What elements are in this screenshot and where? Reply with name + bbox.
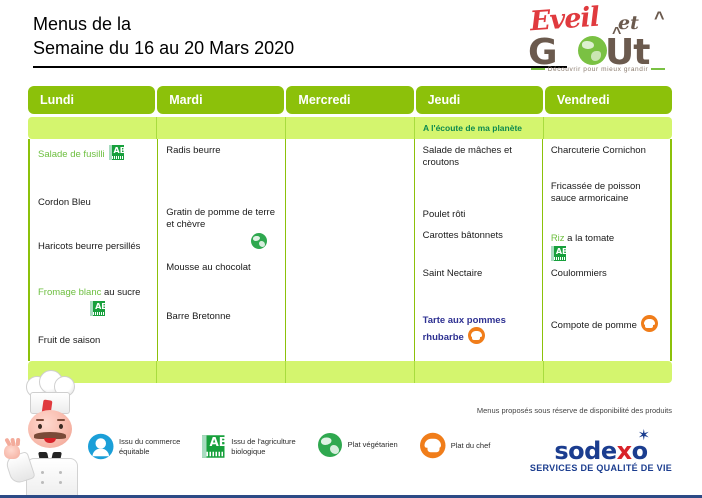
dish-item: Compote de pomme [551,315,666,332]
sodexo-logo: sodexo✶ SERVICES DE QUALITÉ DE VIE [516,437,686,473]
legend-item-chef: Plat du chef [420,437,491,454]
dish-item: Coulommiers [551,268,666,280]
dish-label: Mousse au chocolat [166,262,251,273]
dish-item: Cordon Bleu [38,197,153,209]
sodexo-word-so: sode [554,437,616,465]
chef-hat-icon [420,433,446,459]
jacket-button [41,471,44,474]
chef-hand [4,444,20,459]
organic-ab-icon [551,246,566,261]
dish-item: Poulet rôti [423,209,538,221]
dish-label: Gratin de pomme de terre et chèvre [166,207,275,230]
banner-cell-mardi [157,117,286,139]
title-underline [33,66,567,68]
dish-item: Fromage blanc au sucre [38,287,153,317]
menu-column-mardi: Radis beurre Gratin de pomme de terre et… [158,139,286,361]
legend-label: Issu du commerce équitable [119,437,180,456]
globe-icon [578,36,607,65]
jacket-button [59,471,62,474]
dish-label: Salade de fusilli [38,149,105,160]
dish-item: Haricots beurre persillés [38,241,153,253]
dish-label: Compote de pomme [551,320,637,331]
dish-label: au sucre [101,287,140,298]
legend-item-organic: Issu de l'agriculture biologique [202,437,295,456]
sodexo-word-x: x [617,437,632,465]
dish-item: Saint Nectaire [423,268,538,280]
legend-label-line2: biologique [231,447,265,456]
day-header-mardi[interactable]: Mardi [157,86,284,114]
tagline-dash-right-icon [651,68,665,70]
dish-item: Carottes bâtonnets [423,230,538,242]
tagline-dash-left-icon [531,68,545,70]
legend-item-vegetarian: Plat végétarien [318,437,398,453]
dish-label: Fruit de saison [38,335,100,346]
dish-item: Salade de mâches et croutons [423,145,538,169]
day-header-mercredi[interactable]: Mercredi [286,86,413,114]
legend-label: Plat du chef [451,441,491,451]
dish-item: Tarte aux pommes rhubarbe [423,315,509,344]
eveil-et-gout-logo: Eveil et ^ G ^ Ut Découvrir pour mieux g… [512,4,684,80]
dish-item: Fricassée de poisson sauce armoricaine [551,181,666,205]
dish-item: Riz a la tomate [551,233,666,262]
legend-label-line2: équitable [119,447,149,456]
chef-hat-icon [641,315,658,332]
dish-item: Fruit de saison [38,335,153,347]
bottom-cell-vendredi [544,361,672,383]
title-line-1: Menus de la [33,12,503,36]
organic-ab-icon [90,301,105,316]
disclaimer-text: Menus proposés sous réserve de disponibi… [400,406,672,415]
dish-item: Mousse au chocolat [166,262,281,274]
dish-item: Barre Bretonne [166,311,281,323]
dish-label: Tarte aux pommes rhubarbe [423,315,506,343]
chef-brow-left [36,419,44,421]
bottom-cell-jeudi [415,361,544,383]
sodexo-wordmark: sodexo✶ [554,437,647,465]
banner-cell-jeudi: A l'écoute de ma planète [415,117,544,139]
vegetarian-icon [251,233,267,249]
organic-ab-icon [109,145,124,160]
bottom-green-band [28,361,672,383]
logo-top-row: Eveil et ^ [512,4,684,34]
poster-header: Menus de la Semaine du 16 au 20 Mars 202… [0,0,702,84]
legend-item-fairtrade: Issu du commerce équitable [88,437,180,456]
day-header-row: Lundi Mardi Mercredi Jeudi Vendredi [28,86,672,114]
vegetarian-icon [318,433,342,457]
bottom-cell-mardi [157,361,286,383]
dish-label-green: Fromage blanc [38,287,101,298]
dish-label: Radis beurre [166,145,220,156]
dish-label: Saint Nectaire [423,268,483,279]
chef-eye-left [38,424,42,429]
legend-label-line1: Issu du commerce [119,437,180,446]
menu-column-vendredi: Charcuterie Cornichon Fricassée de poiss… [543,139,670,361]
legend-label-line1: Issu de l'agriculture [231,437,295,446]
dish-item: Radis beurre [166,145,281,157]
theme-banner-row: A l'écoute de ma planète [28,117,672,139]
dish-label: Fricassée de poisson sauce armoricaine [551,181,641,204]
banner-cell-vendredi [544,117,672,139]
dish-label: Salade de mâches et croutons [423,145,512,168]
chef-finger [16,438,21,446]
sodexo-star-icon: ✶ [638,426,650,444]
menu-poster: Menus de la Semaine du 16 au 20 Mars 202… [0,0,702,498]
menu-column-lundi: Salade de fusilli Cordon Bleu Haricots b… [30,139,158,361]
dish-item: Salade de fusilli [38,145,153,161]
bottom-cell-mercredi [286,361,415,383]
dish-label: Barre Bretonne [166,311,230,322]
day-header-lundi[interactable]: Lundi [28,86,155,114]
menu-body: Salade de fusilli Cordon Bleu Haricots b… [28,139,672,361]
chef-hat-icon [468,327,485,344]
day-header-jeudi[interactable]: Jeudi [416,86,543,114]
chef-mascot [8,368,94,494]
logo-caret-icon: ^ [654,8,665,29]
dish-label: Cordon Bleu [38,197,91,208]
logo-tagline-row: Découvrir pour mieux grandir [512,66,684,73]
dish-label: Carottes bâtonnets [423,230,503,241]
legend-label: Plat végétarien [348,440,398,450]
logo-mid-row: G ^ Ut [512,34,684,68]
dish-label: a la tomate [565,233,615,244]
banner-cell-mercredi [286,117,415,139]
organic-ab-icon [202,435,225,458]
chef-jacket [26,458,78,498]
dish-label: Charcuterie Cornichon [551,145,646,156]
dish-item: Gratin de pomme de terre et chèvre [166,207,281,249]
dish-label-green: Riz [551,233,565,244]
banner-cell-lundi [28,117,157,139]
menu-column-jeudi: Salade de mâches et croutons Poulet rôti… [415,139,543,361]
day-header-vendredi[interactable]: Vendredi [545,86,672,114]
dish-label: Haricots beurre persillés [38,241,140,252]
chef-brow-right [57,419,65,421]
jacket-button [41,481,44,484]
dish-item: Charcuterie Cornichon [551,145,666,157]
title-line-2: Semaine du 16 au 20 Mars 2020 [33,36,503,60]
dish-label: Poulet rôti [423,209,466,220]
menu-column-mercredi [286,139,414,361]
logo-tagline-text: Découvrir pour mieux grandir [548,66,649,73]
dish-label: Coulommiers [551,268,607,279]
legend: Issu du commerce équitable Issu de l'agr… [88,437,490,456]
jacket-button [59,481,62,484]
page-title: Menus de la Semaine du 16 au 20 Mars 202… [33,12,503,60]
menu-grid: Lundi Mardi Mercredi Jeudi Vendredi A l'… [28,86,672,383]
legend-label: Issu de l'agriculture biologique [231,437,295,456]
chef-eye-right [59,424,63,429]
